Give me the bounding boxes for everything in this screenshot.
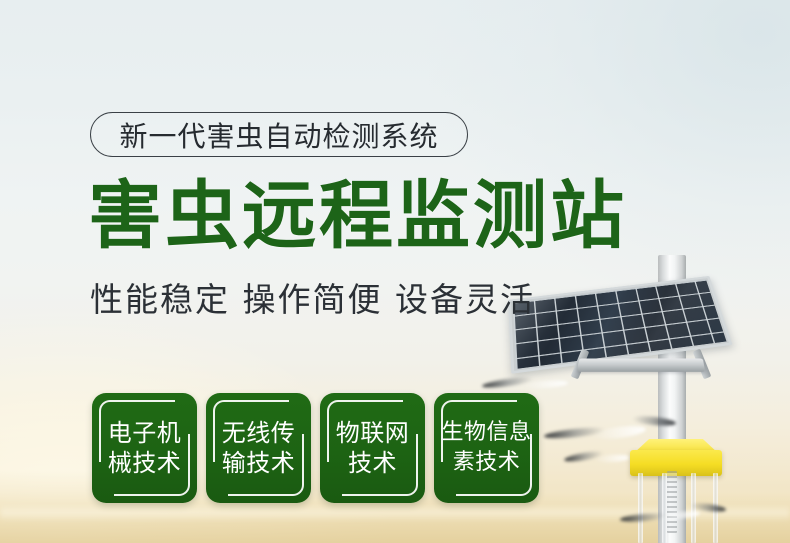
feature-tag-iot[interactable]: 物联网 技术: [320, 393, 425, 503]
bird-icon: [620, 500, 730, 540]
tagline-badge-text: 新一代害虫自动检测系统: [119, 115, 438, 155]
feature-tag-line1: 物联网: [336, 418, 410, 448]
feature-tag-label: 生物信息 素技术: [434, 393, 539, 503]
bird-icon: [544, 413, 674, 461]
feature-tag-wireless-transmission[interactable]: 无线传 输技术: [206, 393, 311, 503]
feature-tag-electromechanical[interactable]: 电子机 械技术: [92, 393, 197, 503]
page-subtitle: 性能稳定 操作简便 设备灵活: [90, 278, 535, 322]
promo-banner: 新一代害虫自动检测系统 害虫远程监测站 性能稳定 操作简便 设备灵活 电子机 械…: [0, 0, 790, 543]
feature-tag-pheromone[interactable]: 生物信息 素技术: [434, 393, 539, 503]
tagline-badge: 新一代害虫自动检测系统: [90, 112, 468, 157]
feature-tag-line1: 生物信息: [441, 418, 531, 448]
feature-tag-line2: 素技术: [453, 448, 521, 478]
feature-tag-line2: 输技术: [222, 448, 296, 478]
feature-tag-line1: 电子机: [108, 418, 182, 448]
feature-tag-label: 电子机 械技术: [92, 393, 197, 503]
feature-tag-label: 物联网 技术: [320, 393, 425, 503]
feature-tag-label: 无线传 输技术: [206, 393, 311, 503]
mounting-bracket: [577, 358, 705, 371]
feature-tag-line2: 械技术: [108, 448, 182, 478]
feature-tag-row: 电子机 械技术 无线传 输技术 物联网 技术 生物信息: [92, 393, 539, 503]
feature-tag-line1: 无线传: [222, 418, 296, 448]
feature-tag-line2: 技术: [348, 448, 397, 478]
page-title: 害虫远程监测站: [88, 174, 627, 258]
